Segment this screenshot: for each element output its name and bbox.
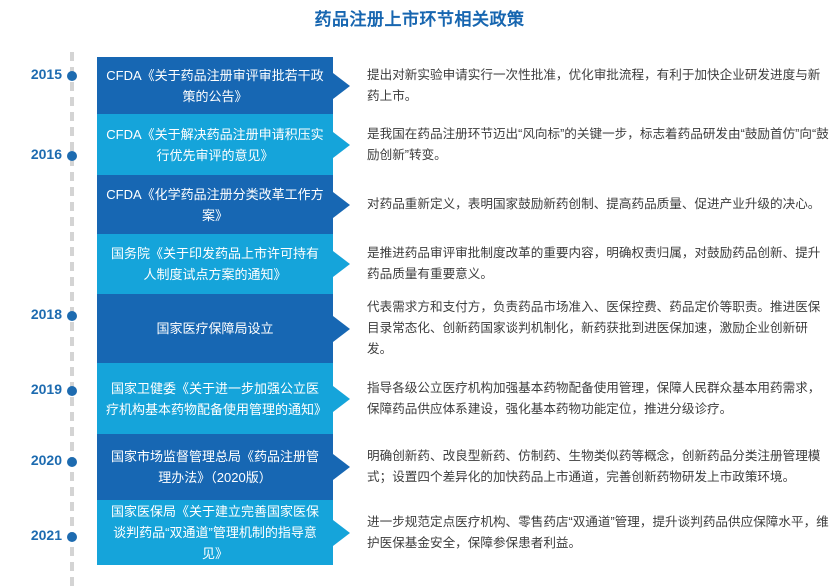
policy-title: 国家医疗保障局设立 (156, 318, 273, 339)
policy-description-row: 是我国在药品注册环节迈出“风向标”的关键一步，标志着药品研发由“鼓励首仿”向“鼓… (367, 114, 832, 175)
policy-description: 进一步规范定点医疗机构、零售药店“双通道”管理，提升谈判药品供应保障水平，维护医… (367, 512, 832, 554)
policy-block[interactable]: 国家市场监督管理总局《药品注册管理办法》（2020版） (97, 434, 333, 500)
policy-description: 是我国在药品注册环节迈出“风向标”的关键一步，标志着药品研发由“鼓励首仿”向“鼓… (367, 124, 832, 166)
policy-description-row: 指导各级公立医疗机构加强基本药物配备使用管理，保障人民群众基本用药需求，保障药品… (367, 363, 832, 434)
policy-description-row: 进一步规范定点医疗机构、零售药店“双通道”管理，提升谈判药品供应保障水平，维护医… (367, 500, 832, 565)
policy-description: 是推进药品审评审批制度改革的重要内容，明确权责归属，对鼓励药品创新、提升药品质量… (367, 243, 832, 285)
policy-block[interactable]: CFDA《关于解决药品注册申请积压实行优先审评的意见》 (97, 114, 333, 175)
policy-description: 提出对新实验申请实行一次性批准，优化审批流程，有利于加快企业研发进度与新药上市。 (367, 65, 832, 107)
policy-title: 国家卫健委《关于进一步加强公立医疗机构基本药物配备使用管理的通知》 (106, 378, 324, 420)
timeline-dot-2021 (67, 532, 77, 542)
policy-block[interactable]: 国务院《关于印发药品上市许可持有人制度试点方案的通知》 (97, 234, 333, 294)
policy-block-column: CFDA《关于药品注册审评审批若干政策的公告》CFDA《关于解决药品注册申请积压… (97, 57, 333, 565)
policy-title: 国家市场监督管理总局《药品注册管理办法》（2020版） (106, 446, 324, 488)
policy-description-row: 代表需求方和支付方，负责药品市场准入、医保控费、药品定价等职责。推进医保目录常态… (367, 294, 832, 363)
arrow-right-icon (333, 192, 350, 218)
description-column: 提出对新实验申请实行一次性批准，优化审批流程，有利于加快企业研发进度与新药上市。… (367, 57, 832, 565)
policy-description: 明确创新药、改良型新药、仿制药、生物类似药等概念，创新药品分类注册管理模式；设置… (367, 446, 832, 488)
infographic-page: 药品注册上市环节相关政策 201520162018201920202021 CF… (0, 0, 839, 586)
policy-title: 国家医保局《关于建立完善国家医保谈判药品“双通道”管理机制的指导意见》 (106, 501, 324, 564)
timeline-dot-2018 (67, 311, 77, 321)
arrow-right-icon (333, 454, 350, 480)
year-label-2019: 2019 (8, 382, 62, 396)
timeline-dot-2016 (67, 151, 77, 161)
timeline-dot-2020 (67, 457, 77, 467)
arrow-right-icon (333, 316, 350, 342)
arrow-right-icon (333, 73, 350, 99)
policy-description: 对药品重新定义，表明国家鼓励新药创制、提高药品质量、促进产业升级的决心。 (367, 194, 820, 215)
year-label-2021: 2021 (8, 528, 62, 542)
arrow-right-icon (333, 132, 350, 158)
policy-block[interactable]: CFDA《化学药品注册分类改革工作方案》 (97, 175, 333, 234)
policy-description-row: 是推进药品审评审批制度改革的重要内容，明确权责归属，对鼓励药品创新、提升药品质量… (367, 234, 832, 294)
policy-title: CFDA《化学药品注册分类改革工作方案》 (106, 184, 324, 226)
policy-block[interactable]: 国家医保局《关于建立完善国家医保谈判药品“双通道”管理机制的指导意见》 (97, 500, 333, 565)
policy-description: 指导各级公立医疗机构加强基本药物配备使用管理，保障人民群众基本用药需求，保障药品… (367, 378, 832, 420)
policy-block[interactable]: 国家医疗保障局设立 (97, 294, 333, 363)
year-label-2015: 2015 (8, 67, 62, 81)
year-label-2016: 2016 (8, 147, 62, 161)
timeline-dot-2019 (67, 386, 77, 396)
policy-title: CFDA《关于解决药品注册申请积压实行优先审评的意见》 (106, 124, 324, 166)
policy-description-row: 明确创新药、改良型新药、仿制药、生物类似药等概念，创新药品分类注册管理模式；设置… (367, 434, 832, 500)
year-label-2018: 2018 (8, 307, 62, 321)
policy-title: CFDA《关于药品注册审评审批若干政策的公告》 (106, 65, 324, 107)
year-label-2020: 2020 (8, 453, 62, 467)
policy-block[interactable]: 国家卫健委《关于进一步加强公立医疗机构基本药物配备使用管理的通知》 (97, 363, 333, 434)
policy-description: 代表需求方和支付方，负责药品市场准入、医保控费、药品定价等职责。推进医保目录常态… (367, 297, 832, 360)
timeline-dot-2015 (67, 71, 77, 81)
policy-title: 国务院《关于印发药品上市许可持有人制度试点方案的通知》 (106, 243, 324, 285)
arrow-right-icon (333, 520, 350, 546)
arrow-right-icon (333, 251, 350, 277)
page-title: 药品注册上市环节相关政策 (0, 8, 839, 32)
arrow-right-icon (333, 386, 350, 412)
policy-description-row: 提出对新实验申请实行一次性批准，优化审批流程，有利于加快企业研发进度与新药上市。 (367, 57, 832, 114)
policy-block[interactable]: CFDA《关于药品注册审评审批若干政策的公告》 (97, 57, 333, 114)
policy-description-row: 对药品重新定义，表明国家鼓励新药创制、提高药品质量、促进产业升级的决心。 (367, 175, 832, 234)
